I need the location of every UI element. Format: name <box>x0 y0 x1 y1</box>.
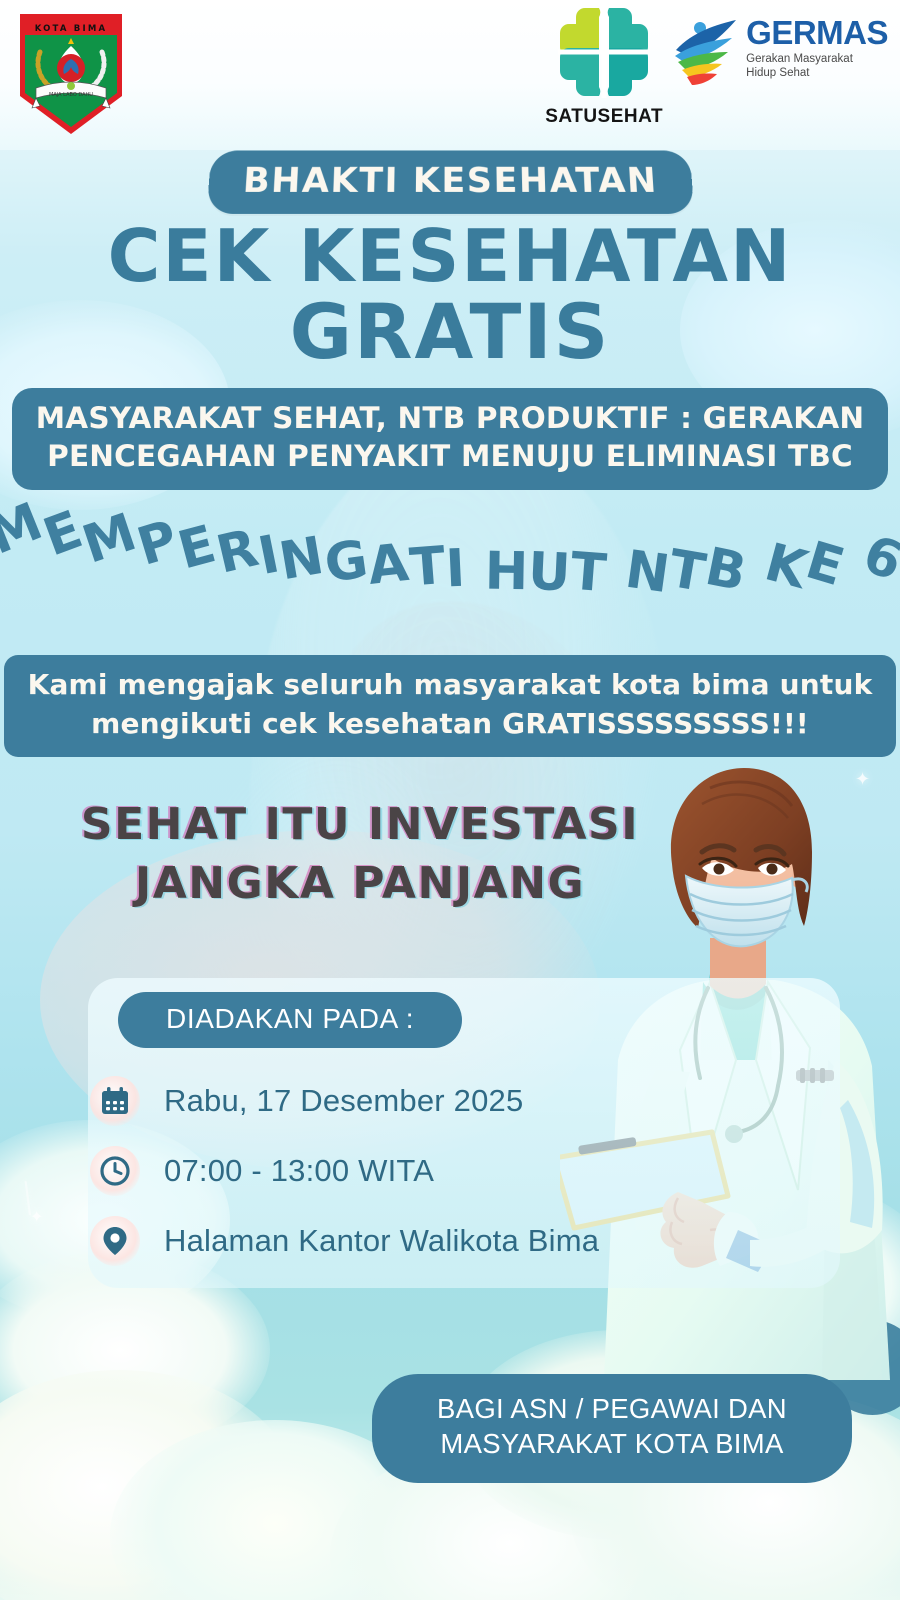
event-date-text: Rabu, 17 Desember 2025 <box>164 1083 523 1119</box>
detail-row-date: Rabu, 17 Desember 2025 <box>92 1078 523 1124</box>
svg-text:MAJA LABO DAHU: MAJA LABO DAHU <box>49 92 93 98</box>
germas-subtitle-line2: Hidup Sehat <box>746 67 809 79</box>
detail-row-time: 07:00 - 13:00 WITA <box>92 1148 434 1194</box>
arch-text-container: MEMPERINGATI HUT NTB KE 67 <box>0 525 900 650</box>
partner-logos: SATUSEHAT GERMAS Gerakan Masyarakat Hidu… <box>544 6 888 128</box>
audience-banner: BAGI ASN / PEGAWAI DAN MASYARAKAT KOTA B… <box>372 1374 852 1483</box>
kota-bima-coat-of-arms: KOTA BIMA MAJA LABO DAHU <box>12 10 130 138</box>
main-title-line1: CEK KESEHATAN <box>0 222 900 291</box>
subtitle-line2: PENCEGAHAN PENYAKIT MENUJU ELIMINASI TBC <box>26 438 874 476</box>
diadakan-pada-pill: DIADAKAN PADA : <box>118 992 462 1048</box>
svg-text:KOTA BIMA: KOTA BIMA <box>35 24 108 34</box>
poster-canvas: ✦ ✦ ✦ ╲ ╱ KOTA BIMA MAJA LABO DAHU <box>0 0 900 1600</box>
germas-mark-icon <box>670 16 742 90</box>
main-title-line2: GRATIS <box>0 296 900 369</box>
subtitle-banner: MASYARAKAT SEHAT, NTB PRODUKTIF : GERAKA… <box>12 388 888 490</box>
invitation-line1: Kami mengajak seluruh masyarakat kota bi… <box>14 665 886 704</box>
bhakti-kesehatan-ribbon: BHAKTI KESEHATAN <box>206 151 693 214</box>
calendar-icon <box>92 1078 138 1124</box>
audience-line2: MASYARAKAT KOTA BIMA <box>394 1427 830 1462</box>
detail-row-location: Halaman Kantor Walikota Bima <box>92 1218 599 1264</box>
germas-subtitle: Gerakan Masyarakat Hidup Sehat <box>746 52 888 80</box>
invitation-line2: mengikuti cek kesehatan GRATISSSSSSSSS!!… <box>14 704 886 743</box>
event-time-text: 07:00 - 13:00 WITA <box>164 1153 434 1189</box>
audience-line1: BAGI ASN / PEGAWAI DAN <box>394 1392 830 1427</box>
clock-icon <box>92 1148 138 1194</box>
sparkle-icon: ✦ <box>30 1210 43 1226</box>
satusehat-wordmark: SATUSEHAT <box>545 106 663 128</box>
satusehat-logo: SATUSEHAT <box>544 6 664 128</box>
germas-title: GERMAS <box>746 16 888 49</box>
germas-logo: GERMAS Gerakan Masyarakat Hidup Sehat <box>670 6 888 90</box>
ribbon-container: BHAKTI KESEHATAN <box>0 150 900 220</box>
germas-subtitle-line1: Gerakan Masyarakat <box>746 53 853 65</box>
location-pin-icon <box>92 1218 138 1264</box>
event-location-text: Halaman Kantor Walikota Bima <box>164 1223 599 1259</box>
subtitle-line1: MASYARAKAT SEHAT, NTB PRODUKTIF : GERAKA… <box>26 400 874 438</box>
invitation-banner: Kami mengajak seluruh masyarakat kota bi… <box>4 655 896 757</box>
satusehat-mark-icon <box>558 6 650 98</box>
hut-ntb-arch-text: MEMPERINGATI HUT NTB KE 67 <box>0 525 900 585</box>
